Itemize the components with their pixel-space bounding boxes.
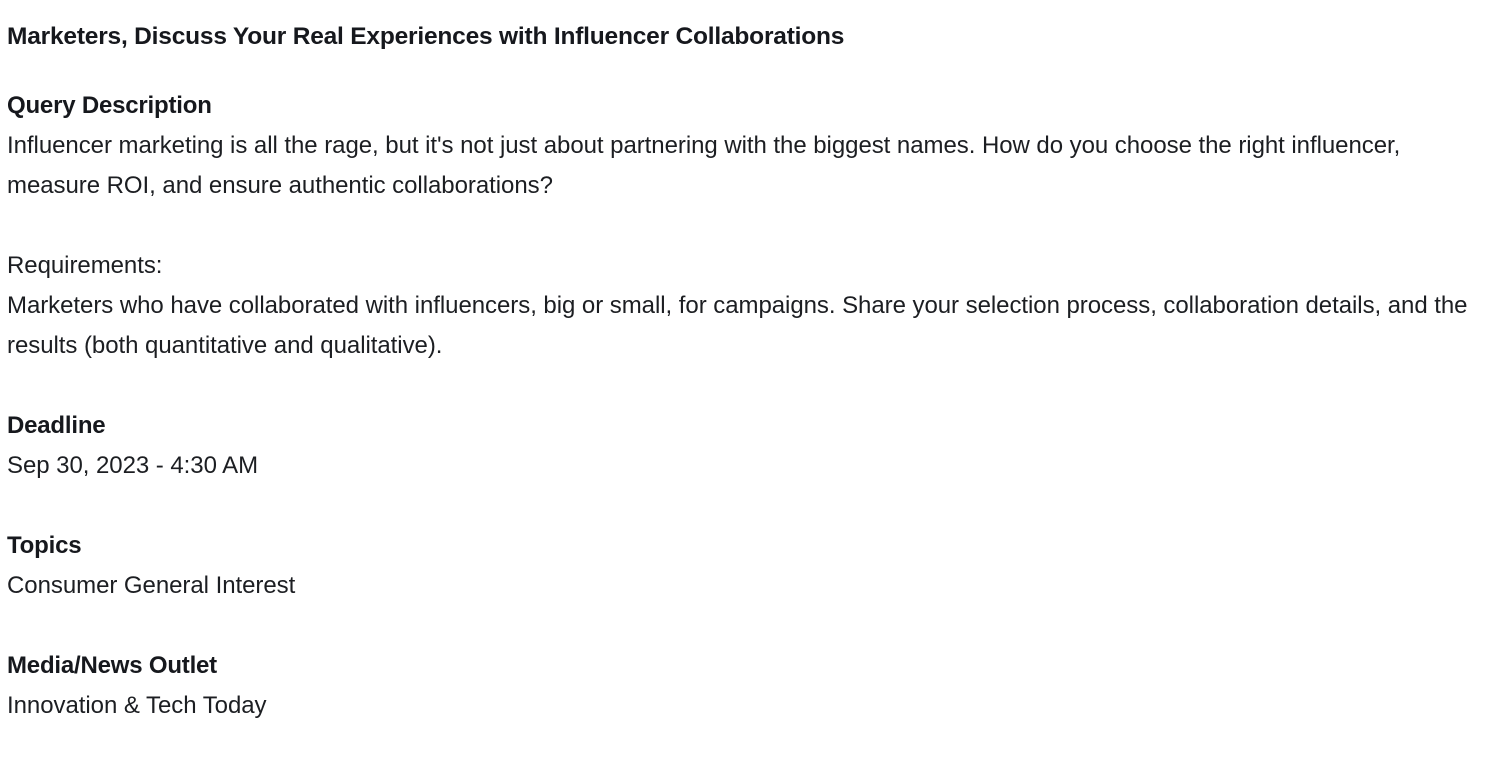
section-deadline: Deadline Sep 30, 2023 - 4:30 AM — [7, 406, 1473, 486]
query-description-paragraph: Influencer marketing is all the rage, bu… — [7, 126, 1473, 206]
deadline-value: Sep 30, 2023 - 4:30 AM — [7, 446, 1473, 486]
requirements-label: Requirements: — [7, 246, 1473, 286]
page-title: Marketers, Discuss Your Real Experiences… — [7, 22, 1473, 52]
requirements-text: Marketers who have collaborated with inf… — [7, 286, 1473, 366]
query-detail-page: Marketers, Discuss Your Real Experiences… — [0, 0, 1485, 767]
topics-heading: Topics — [7, 526, 1473, 566]
section-query-description: Query Description Influencer marketing i… — [7, 86, 1473, 366]
paragraph-spacer — [7, 206, 1473, 246]
topics-value: Consumer General Interest — [7, 566, 1473, 606]
media-news-outlet-heading: Media/News Outlet — [7, 646, 1473, 686]
deadline-heading: Deadline — [7, 406, 1473, 446]
query-description-body: Influencer marketing is all the rage, bu… — [7, 126, 1473, 366]
section-media-news-outlet: Media/News Outlet Innovation & Tech Toda… — [7, 646, 1473, 726]
media-news-outlet-value: Innovation & Tech Today — [7, 686, 1473, 726]
section-topics: Topics Consumer General Interest — [7, 526, 1473, 606]
query-description-heading: Query Description — [7, 86, 1473, 126]
